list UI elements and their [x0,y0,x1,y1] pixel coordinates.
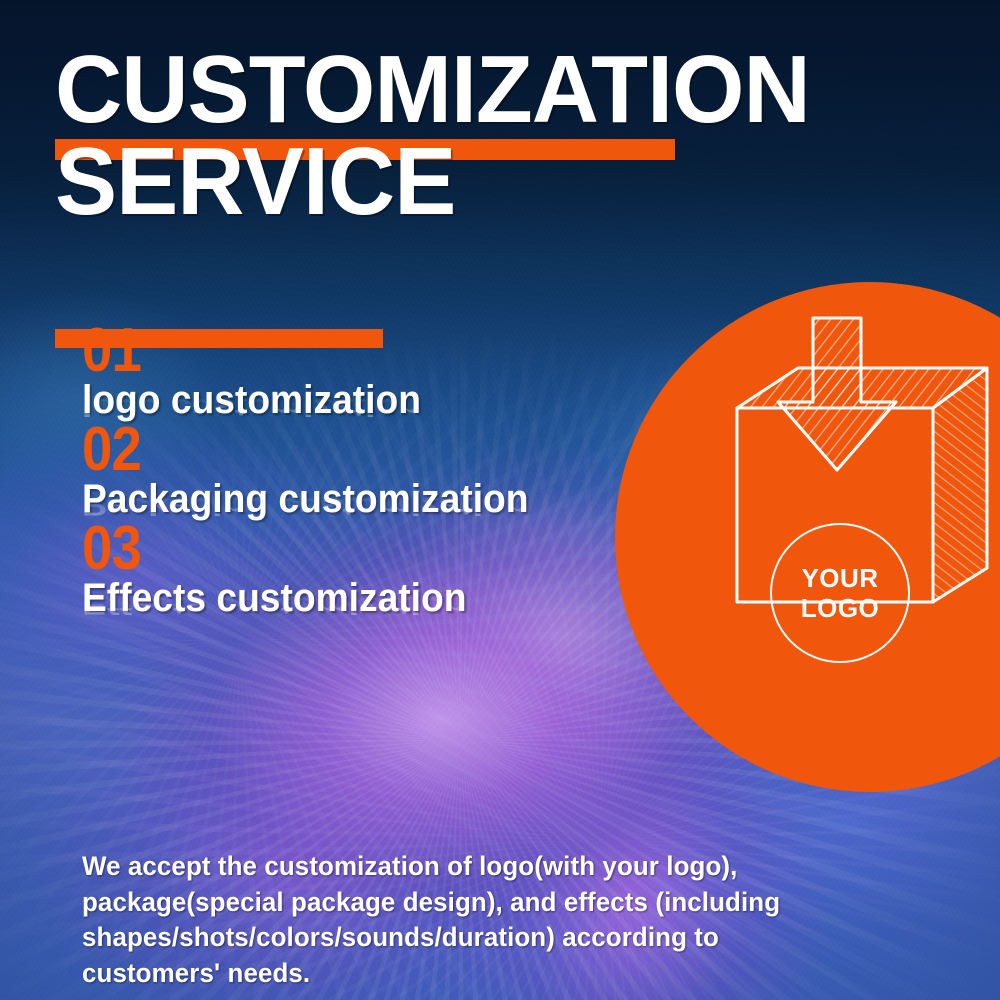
your-logo-line-1: YOUR [801,563,878,593]
your-logo-badge: YOUR LOGO [770,523,910,663]
list-item: 03 Effects customization Effects customi… [82,520,642,577]
headline-underline-bar-2 [55,329,383,348]
promo-poster: CUSTOMIZATION SERVICE 01 logo customizat… [0,0,1000,1000]
list-item: 02 Packaging customization Packaging cus… [82,421,642,478]
body-paragraph: We accept the customization of logo(with… [82,849,821,992]
service-item-number-02: 02 [82,421,575,478]
service-item-number-03: 03 [82,520,575,577]
headline-text-customization: CUSTOMIZATION [55,44,792,136]
service-item-title-02: Packaging customization [82,478,529,520]
headline-line-1: CUSTOMIZATION [55,44,815,136]
your-logo-line-2: LOGO [801,593,880,623]
service-list: 01 logo customization logo customization… [82,322,642,577]
headline-text-service: SERVICE [55,136,792,228]
headline-line-2: SERVICE [55,136,815,228]
page-title: CUSTOMIZATION SERVICE [55,44,815,228]
service-item-title-03: Effects customization [82,577,466,619]
